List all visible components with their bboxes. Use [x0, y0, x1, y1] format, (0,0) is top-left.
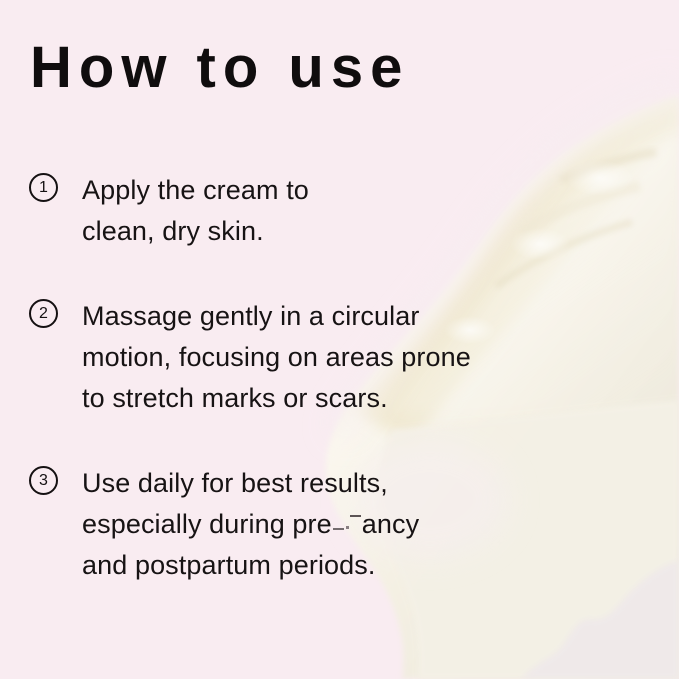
step-line: Massage gently in a circular	[82, 296, 640, 337]
step-text: Use daily for best results, especially d…	[82, 463, 640, 586]
step-line: clean, dry skin.	[82, 211, 640, 252]
page-title: How to use	[30, 38, 409, 99]
step-line: to stretch marks or scars.	[82, 378, 640, 419]
poster-content: How to use 1 Apply the cream to clean, d…	[0, 0, 679, 679]
step-text: Massage gently in a circular motion, foc…	[82, 296, 640, 419]
step-line-suffix: ancy	[362, 509, 419, 539]
circled-number-icon: 3	[29, 466, 58, 495]
step-line: Apply the cream to	[82, 170, 640, 211]
step-line: and postpartum periods.	[82, 545, 640, 586]
step-line: motion, focusing on areas prone	[82, 337, 640, 378]
list-item: 2 Massage gently in a circular motion, f…	[0, 296, 640, 419]
step-line-prefix: especially during pre	[82, 509, 332, 539]
step-line: Use daily for best results,	[82, 463, 640, 504]
list-item: 3 Use daily for best results, especially…	[0, 463, 640, 586]
circled-number-icon: 2	[29, 299, 58, 328]
glyph-fragment-dot	[346, 526, 349, 529]
glyph-fragment-low	[333, 528, 344, 530]
glyph-fragment-high	[350, 515, 361, 517]
step-line-degraded: especially during preancy	[82, 504, 640, 545]
steps-list: 1 Apply the cream to clean, dry skin. 2 …	[0, 170, 640, 586]
circled-number-icon: 1	[29, 173, 58, 202]
list-item: 1 Apply the cream to clean, dry skin.	[0, 170, 640, 252]
step-text: Apply the cream to clean, dry skin.	[82, 170, 640, 252]
how-to-use-poster: How to use 1 Apply the cream to clean, d…	[0, 0, 679, 679]
